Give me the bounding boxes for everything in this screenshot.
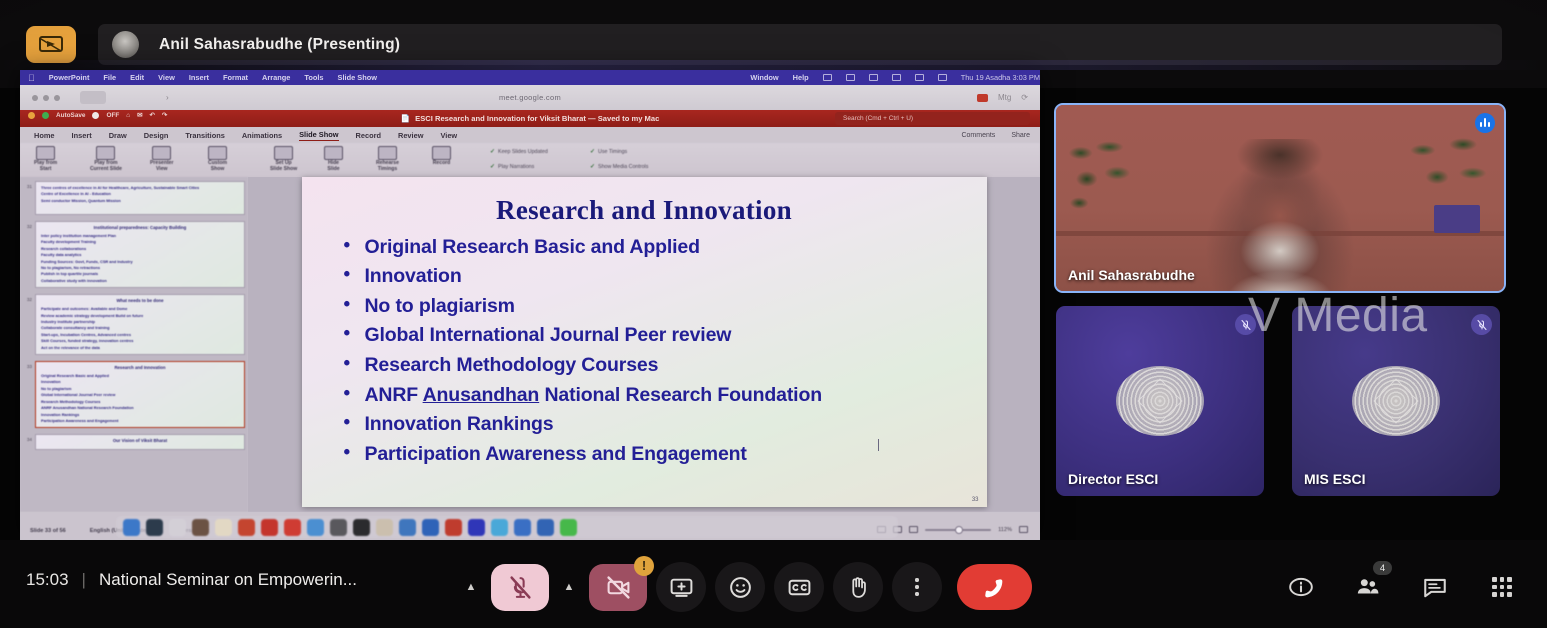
dock-word2-icon[interactable] xyxy=(422,519,439,536)
ribbon-caption-line2: Slide xyxy=(324,167,343,173)
closed-captions-icon xyxy=(787,575,812,600)
presenter-name-label: Anil Sahasrabudhe (Presenting) xyxy=(159,36,400,54)
info-circle-icon xyxy=(1288,574,1314,600)
more-options-button[interactable] xyxy=(892,562,942,612)
reload-icon[interactable]: ⟳ xyxy=(1021,93,1028,102)
separator: | xyxy=(82,570,86,590)
dock-powerpoint-icon[interactable] xyxy=(445,519,462,536)
slide-bullet: Research Methodology Courses xyxy=(344,351,963,381)
dock-launchpad-icon[interactable] xyxy=(146,519,163,536)
record-icon xyxy=(432,146,451,160)
screen-mirror-icon[interactable] xyxy=(823,74,832,81)
mic-options-chevron-up-icon[interactable]: ▲ xyxy=(460,565,482,609)
slide-counter: Slide 33 of 56 xyxy=(30,528,66,534)
presenter-view-icon xyxy=(152,146,171,160)
chat-button[interactable] xyxy=(1420,572,1450,602)
thumbnail-title: What needs to be done xyxy=(41,298,239,304)
comments-button[interactable]: Comments xyxy=(961,132,995,139)
participant-tile-mis-esci[interactable]: MIS ESCI xyxy=(1292,306,1500,496)
rehearse-timings-icon xyxy=(378,146,397,160)
thumbnail-page: Research and Innovation Original Researc… xyxy=(35,361,245,428)
dock-mail-icon[interactable] xyxy=(238,519,255,536)
dock-terminal-icon[interactable] xyxy=(330,519,347,536)
three-dots-vertical-icon xyxy=(915,578,918,595)
menu-file[interactable]: File xyxy=(103,73,116,82)
avatar xyxy=(1352,366,1440,436)
dock-preview-icon[interactable] xyxy=(215,519,232,536)
microphone-button[interactable] xyxy=(491,564,549,611)
menu-help[interactable]: Help xyxy=(793,73,809,82)
reading-view-icon[interactable] xyxy=(909,526,918,533)
slide-bullet: Original Research Basic and Applied xyxy=(344,233,963,263)
dock-zoom-icon[interactable] xyxy=(537,519,554,536)
emoji-smiley-icon xyxy=(728,575,753,600)
slide-bullet: Innovation Rankings xyxy=(344,410,963,440)
menu-arrange[interactable]: Arrange xyxy=(262,73,290,82)
ribbon-caption-line2: Timings xyxy=(376,167,399,173)
slide-title: Research and Innovation xyxy=(326,195,963,226)
presentation-screen-glyph xyxy=(39,36,63,54)
check-use-timings[interactable]: ✓ Use Timings xyxy=(590,148,627,155)
slide-bullet-list: Original Research Basic and Applied Inno… xyxy=(326,233,963,470)
zoom-slider-handle[interactable] xyxy=(955,526,963,534)
people-icon xyxy=(1355,574,1381,600)
mic-off-icon xyxy=(1235,314,1256,335)
browser-right-icons: Mtg ⟳ xyxy=(977,93,1028,102)
mic-off-glyph xyxy=(1240,319,1252,331)
reactions-button[interactable] xyxy=(715,562,765,612)
ribbon-presenter-view[interactable]: Presenter View xyxy=(150,146,174,173)
thumbnail-number: 32 xyxy=(23,294,32,355)
ribbon-record[interactable]: Record xyxy=(432,146,451,167)
participant-name-label: Director ESCI xyxy=(1068,471,1158,487)
ribbon-play-from-start[interactable]: Play from Start xyxy=(34,146,57,173)
zoom-level: 112% xyxy=(998,527,1012,533)
meet-tab-badge-icon[interactable] xyxy=(977,94,988,102)
active-speaker-tile[interactable]: Anil Sahasrabudhe xyxy=(1054,103,1506,293)
present-now-button[interactable] xyxy=(656,562,706,612)
thumbnail-number: 33 xyxy=(23,361,32,428)
raised-hand-icon xyxy=(846,575,871,600)
meeting-details-button[interactable] xyxy=(1286,572,1316,602)
zoom-slider[interactable] xyxy=(925,529,991,531)
grid-apps-icon xyxy=(1492,577,1512,597)
menu-edit[interactable]: Edit xyxy=(130,73,144,82)
ribbon-tab-strip: Home Insert Draw Design Transitions Anim… xyxy=(20,127,1040,143)
check-keep-slides-updated[interactable]: ✓ Keep Slides Updated xyxy=(490,148,548,155)
thumbnail-slide-34[interactable]: 34 Our Vision of Viksit Bharat xyxy=(23,434,245,450)
checkmark-icon: ✓ xyxy=(490,148,495,155)
slide-thumbnail-panel[interactable]: 31 Three centres of excellence in AI for… xyxy=(20,177,248,512)
menu-view[interactable]: View xyxy=(158,73,175,82)
search-input[interactable]: Search (Cmd + Ctrl + U) xyxy=(835,112,1030,125)
check-label: Play Narrations xyxy=(498,164,534,170)
checkmark-icon: ✓ xyxy=(590,163,595,170)
address-bar[interactable]: meet.google.com xyxy=(20,93,1040,102)
slide-bullet: Global International Journal Peer review xyxy=(344,321,963,351)
thumbnail-slide-32b[interactable]: 32 What needs to be done Participate and… xyxy=(23,294,245,355)
audio-level-icon xyxy=(1475,113,1495,133)
play-from-start-icon xyxy=(36,146,55,160)
apple-logo-icon[interactable]:  xyxy=(28,73,35,83)
redo-icon[interactable]: ↷ xyxy=(162,111,167,119)
slide-show-ribbon: Play from Start Play from Current Slide … xyxy=(20,143,1040,177)
ribbon-caption-line2: Current Slide xyxy=(90,167,122,173)
meet-bottom-bar: 15:03 | National Seminar on Empowerin...… xyxy=(0,540,1547,628)
ribbon-right-actions: Comments Share xyxy=(961,132,1030,139)
wifi-icon[interactable] xyxy=(915,74,924,81)
right-call-actions: 4 xyxy=(1286,572,1517,602)
slide-bullet: No to plagiarism xyxy=(344,292,963,322)
hide-slide-icon xyxy=(324,146,343,160)
autosave-toggle[interactable] xyxy=(92,112,99,119)
camera-alert-badge: ! xyxy=(634,556,654,576)
presentation-screen-icon[interactable] xyxy=(26,26,76,63)
thumbnail-line: Semi conductor Mission, Quantum Mission xyxy=(41,198,239,204)
camera-options-chevron-up-icon[interactable]: ▲ xyxy=(558,565,580,609)
tab-slide-show[interactable]: Slide Show xyxy=(299,130,338,141)
captions-button[interactable] xyxy=(774,562,824,612)
dock-teams-icon[interactable] xyxy=(399,519,416,536)
leave-call-button[interactable] xyxy=(957,564,1032,610)
ribbon-caption-line2: Slide Show xyxy=(270,167,297,173)
mac-menu-bar:  PowerPoint File Edit View Insert Forma… xyxy=(20,70,1040,85)
mic-off-icon xyxy=(508,575,533,600)
avatar xyxy=(112,31,139,58)
thumbnail-page: What needs to be done Participate and ou… xyxy=(35,294,245,355)
tab-animations[interactable]: Animations xyxy=(242,131,282,140)
thumbnail-slide-32a[interactable]: 32 Institutional preparedness: Capacity … xyxy=(23,221,245,288)
ribbon-hide-slide[interactable]: Hide Slide xyxy=(324,146,343,173)
mail-icon[interactable]: ✉ xyxy=(137,111,142,119)
present-screen-icon xyxy=(669,575,694,600)
ribbon-caption-line1: Record xyxy=(432,161,451,167)
autosave-state: OFF xyxy=(106,112,119,119)
thumbnail-title: Research and Innovation xyxy=(41,365,239,371)
slide-bullet: Innovation xyxy=(344,262,963,292)
people-count-badge: 4 xyxy=(1373,561,1392,575)
browser-toolbar: › meet.google.com Mtg ⟳ xyxy=(20,85,1040,110)
tab-review[interactable]: Review xyxy=(398,131,423,140)
thumbnail-number: 31 xyxy=(23,181,32,215)
thumbnail-line: Collaborative study with innovation xyxy=(41,278,239,284)
dock-keynote-icon[interactable] xyxy=(261,519,278,536)
battery-icon[interactable] xyxy=(846,74,855,81)
thumbnail-number: 32 xyxy=(23,221,32,288)
mic-off-icon xyxy=(1471,314,1492,335)
menu-insert[interactable]: Insert xyxy=(189,73,209,82)
powerpoint-titlebar-left: AutoSave OFF ⌂ ✉ ↶ ↷ xyxy=(28,111,167,119)
camera-off-icon xyxy=(606,575,631,600)
slide-bullet: Participation Awareness and Engagement xyxy=(344,440,963,470)
document-title: ESCI Research and Innovation for Viksit … xyxy=(415,114,659,123)
tab-transitions[interactable]: Transitions xyxy=(185,131,224,140)
slide-editing-canvas[interactable]: Research and Innovation Original Researc… xyxy=(248,177,1040,512)
avatar xyxy=(1116,366,1204,436)
ribbon-caption-line2: Start xyxy=(34,167,57,173)
thumbnail-page: Our Vision of Viksit Bharat xyxy=(35,434,245,450)
end-call-handset-icon xyxy=(980,572,1010,602)
menu-format[interactable]: Format xyxy=(223,73,248,82)
menu-window[interactable]: Window xyxy=(750,73,778,82)
document-icon: 📄 xyxy=(401,114,410,123)
dock-screenshot-icon[interactable] xyxy=(353,519,370,536)
thumbnail-number: 34 xyxy=(23,434,32,450)
dock-finder-icon[interactable] xyxy=(123,519,140,536)
thumbnail-slide-33-selected[interactable]: 33 Research and Innovation Original Rese… xyxy=(23,361,245,428)
tab-home[interactable]: Home xyxy=(34,131,55,140)
menu-tools[interactable]: Tools xyxy=(304,73,323,82)
chat-bubble-icon xyxy=(1422,574,1448,600)
dock-photos-icon[interactable] xyxy=(307,519,324,536)
home-icon[interactable]: ⌂ xyxy=(126,112,130,119)
speaker-video-feed xyxy=(1056,105,1504,291)
ribbon-custom-show[interactable]: Custom Show xyxy=(208,146,227,173)
ribbon-caption-line2: Show xyxy=(208,167,227,173)
dock-whatsapp-icon[interactable] xyxy=(560,519,577,536)
check-show-media-controls[interactable]: ✓ Show Media Controls xyxy=(590,163,648,170)
fit-to-window-icon[interactable] xyxy=(1019,526,1028,533)
raise-hand-button[interactable] xyxy=(833,562,883,612)
spotlight-search-icon[interactable] xyxy=(938,74,947,81)
tab-draw[interactable]: Draw xyxy=(109,131,127,140)
ribbon-caption-line2: View xyxy=(150,167,174,173)
check-label: Use Timings xyxy=(598,149,627,155)
participant-name-label: MIS ESCI xyxy=(1304,471,1365,487)
window-zoom-dot[interactable] xyxy=(42,112,49,119)
window-minimize-dot[interactable] xyxy=(28,112,35,119)
undo-icon[interactable]: ↶ xyxy=(150,111,155,119)
ribbon-rehearse-timings[interactable]: Rehearse Timings xyxy=(376,146,399,173)
zoom-controls[interactable]: 112% xyxy=(877,526,1028,533)
thumbnail-line: Participation Awareness and Engagement xyxy=(41,418,239,424)
dock-chrome-icon[interactable] xyxy=(514,519,531,536)
check-play-narrations[interactable]: ✓ Play Narrations xyxy=(490,163,534,170)
camera-button[interactable]: ! xyxy=(589,564,647,611)
set-up-slide-show-icon xyxy=(274,146,293,160)
plant-left-decor xyxy=(1064,135,1140,235)
tab-insert[interactable]: Insert xyxy=(72,131,92,140)
check-label: Keep Slides Updated xyxy=(498,149,548,155)
dock-books-icon[interactable] xyxy=(284,519,301,536)
play-from-current-icon xyxy=(96,146,115,160)
tab-design[interactable]: Design xyxy=(144,131,169,140)
mac-dock[interactable] xyxy=(116,516,898,538)
beard-highlight xyxy=(1225,215,1335,293)
thumbnail-title: Institutional preparedness: Capacity Bui… xyxy=(41,225,239,231)
checkmark-icon: ✓ xyxy=(490,163,495,170)
share-button[interactable]: Share xyxy=(1011,132,1030,139)
control-center-icon[interactable] xyxy=(892,74,901,81)
menu-slide-show[interactable]: Slide Show xyxy=(338,73,377,82)
tab-record[interactable]: Record xyxy=(356,131,381,140)
dock-excel-icon[interactable] xyxy=(468,519,485,536)
call-controls: ▲ ▲ ! xyxy=(460,562,1032,612)
current-slide[interactable]: Research and Innovation Original Researc… xyxy=(302,177,987,507)
dock-safari-icon[interactable] xyxy=(169,519,186,536)
thumbnail-page: Three centres of excellence in AI for He… xyxy=(35,181,245,215)
dock-word-icon[interactable] xyxy=(376,519,393,536)
speaker-name-label: Anil Sahasrabudhe xyxy=(1068,267,1195,283)
custom-show-icon xyxy=(208,146,227,160)
check-label: Show Media Controls xyxy=(598,164,648,170)
checkmark-icon: ✓ xyxy=(590,148,595,155)
autosave-label: AutoSave xyxy=(56,112,85,119)
powerpoint-status-bar: Slide 33 of 56 English (United States) A… xyxy=(20,512,1040,540)
participant-tile-director-esci[interactable]: Director ESCI xyxy=(1056,306,1264,496)
slide-bullet: ANRF Anusandhan National Research Founda… xyxy=(344,381,963,411)
thumbnail-line: Act on the relevance of the data xyxy=(41,345,239,351)
dock-drive-icon[interactable] xyxy=(491,519,508,536)
activities-button[interactable] xyxy=(1487,572,1517,602)
thumbnail-title: Our Vision of Viksit Bharat xyxy=(41,438,239,444)
meeting-info-group: 15:03 | National Seminar on Empowerin... xyxy=(26,570,357,590)
menubar-clock[interactable]: Thu 19 Asadha 3:03 PM xyxy=(961,73,1040,82)
meet-tab-label: Mtg xyxy=(998,93,1011,102)
menu-powerpoint[interactable]: PowerPoint xyxy=(49,73,90,82)
tab-view[interactable]: View xyxy=(440,131,457,140)
mic-off-glyph xyxy=(1476,319,1488,331)
ribbon-set-up-slide-show[interactable]: Set Up Slide Show xyxy=(270,146,297,173)
box-decor xyxy=(1434,205,1480,233)
shared-screen-region[interactable]:  PowerPoint File Edit View Insert Forma… xyxy=(20,70,1040,540)
people-button[interactable]: 4 xyxy=(1353,572,1383,602)
presenter-banner[interactable]: Anil Sahasrabudhe (Presenting) xyxy=(98,24,1502,65)
text-cursor xyxy=(878,439,879,451)
ribbon-play-from-current[interactable]: Play from Current Slide xyxy=(90,146,122,173)
dock-notes-icon[interactable] xyxy=(192,519,209,536)
thumbnail-page: Institutional preparedness: Capacity Bui… xyxy=(35,221,245,288)
volume-icon[interactable] xyxy=(869,74,878,81)
slide-page-number: 33 xyxy=(972,497,979,503)
meeting-title-label: National Seminar on Empowerin... xyxy=(99,570,357,590)
meeting-clock: 15:03 xyxy=(26,570,69,590)
thumbnail-slide-31[interactable]: 31 Three centres of excellence in AI for… xyxy=(23,181,245,215)
